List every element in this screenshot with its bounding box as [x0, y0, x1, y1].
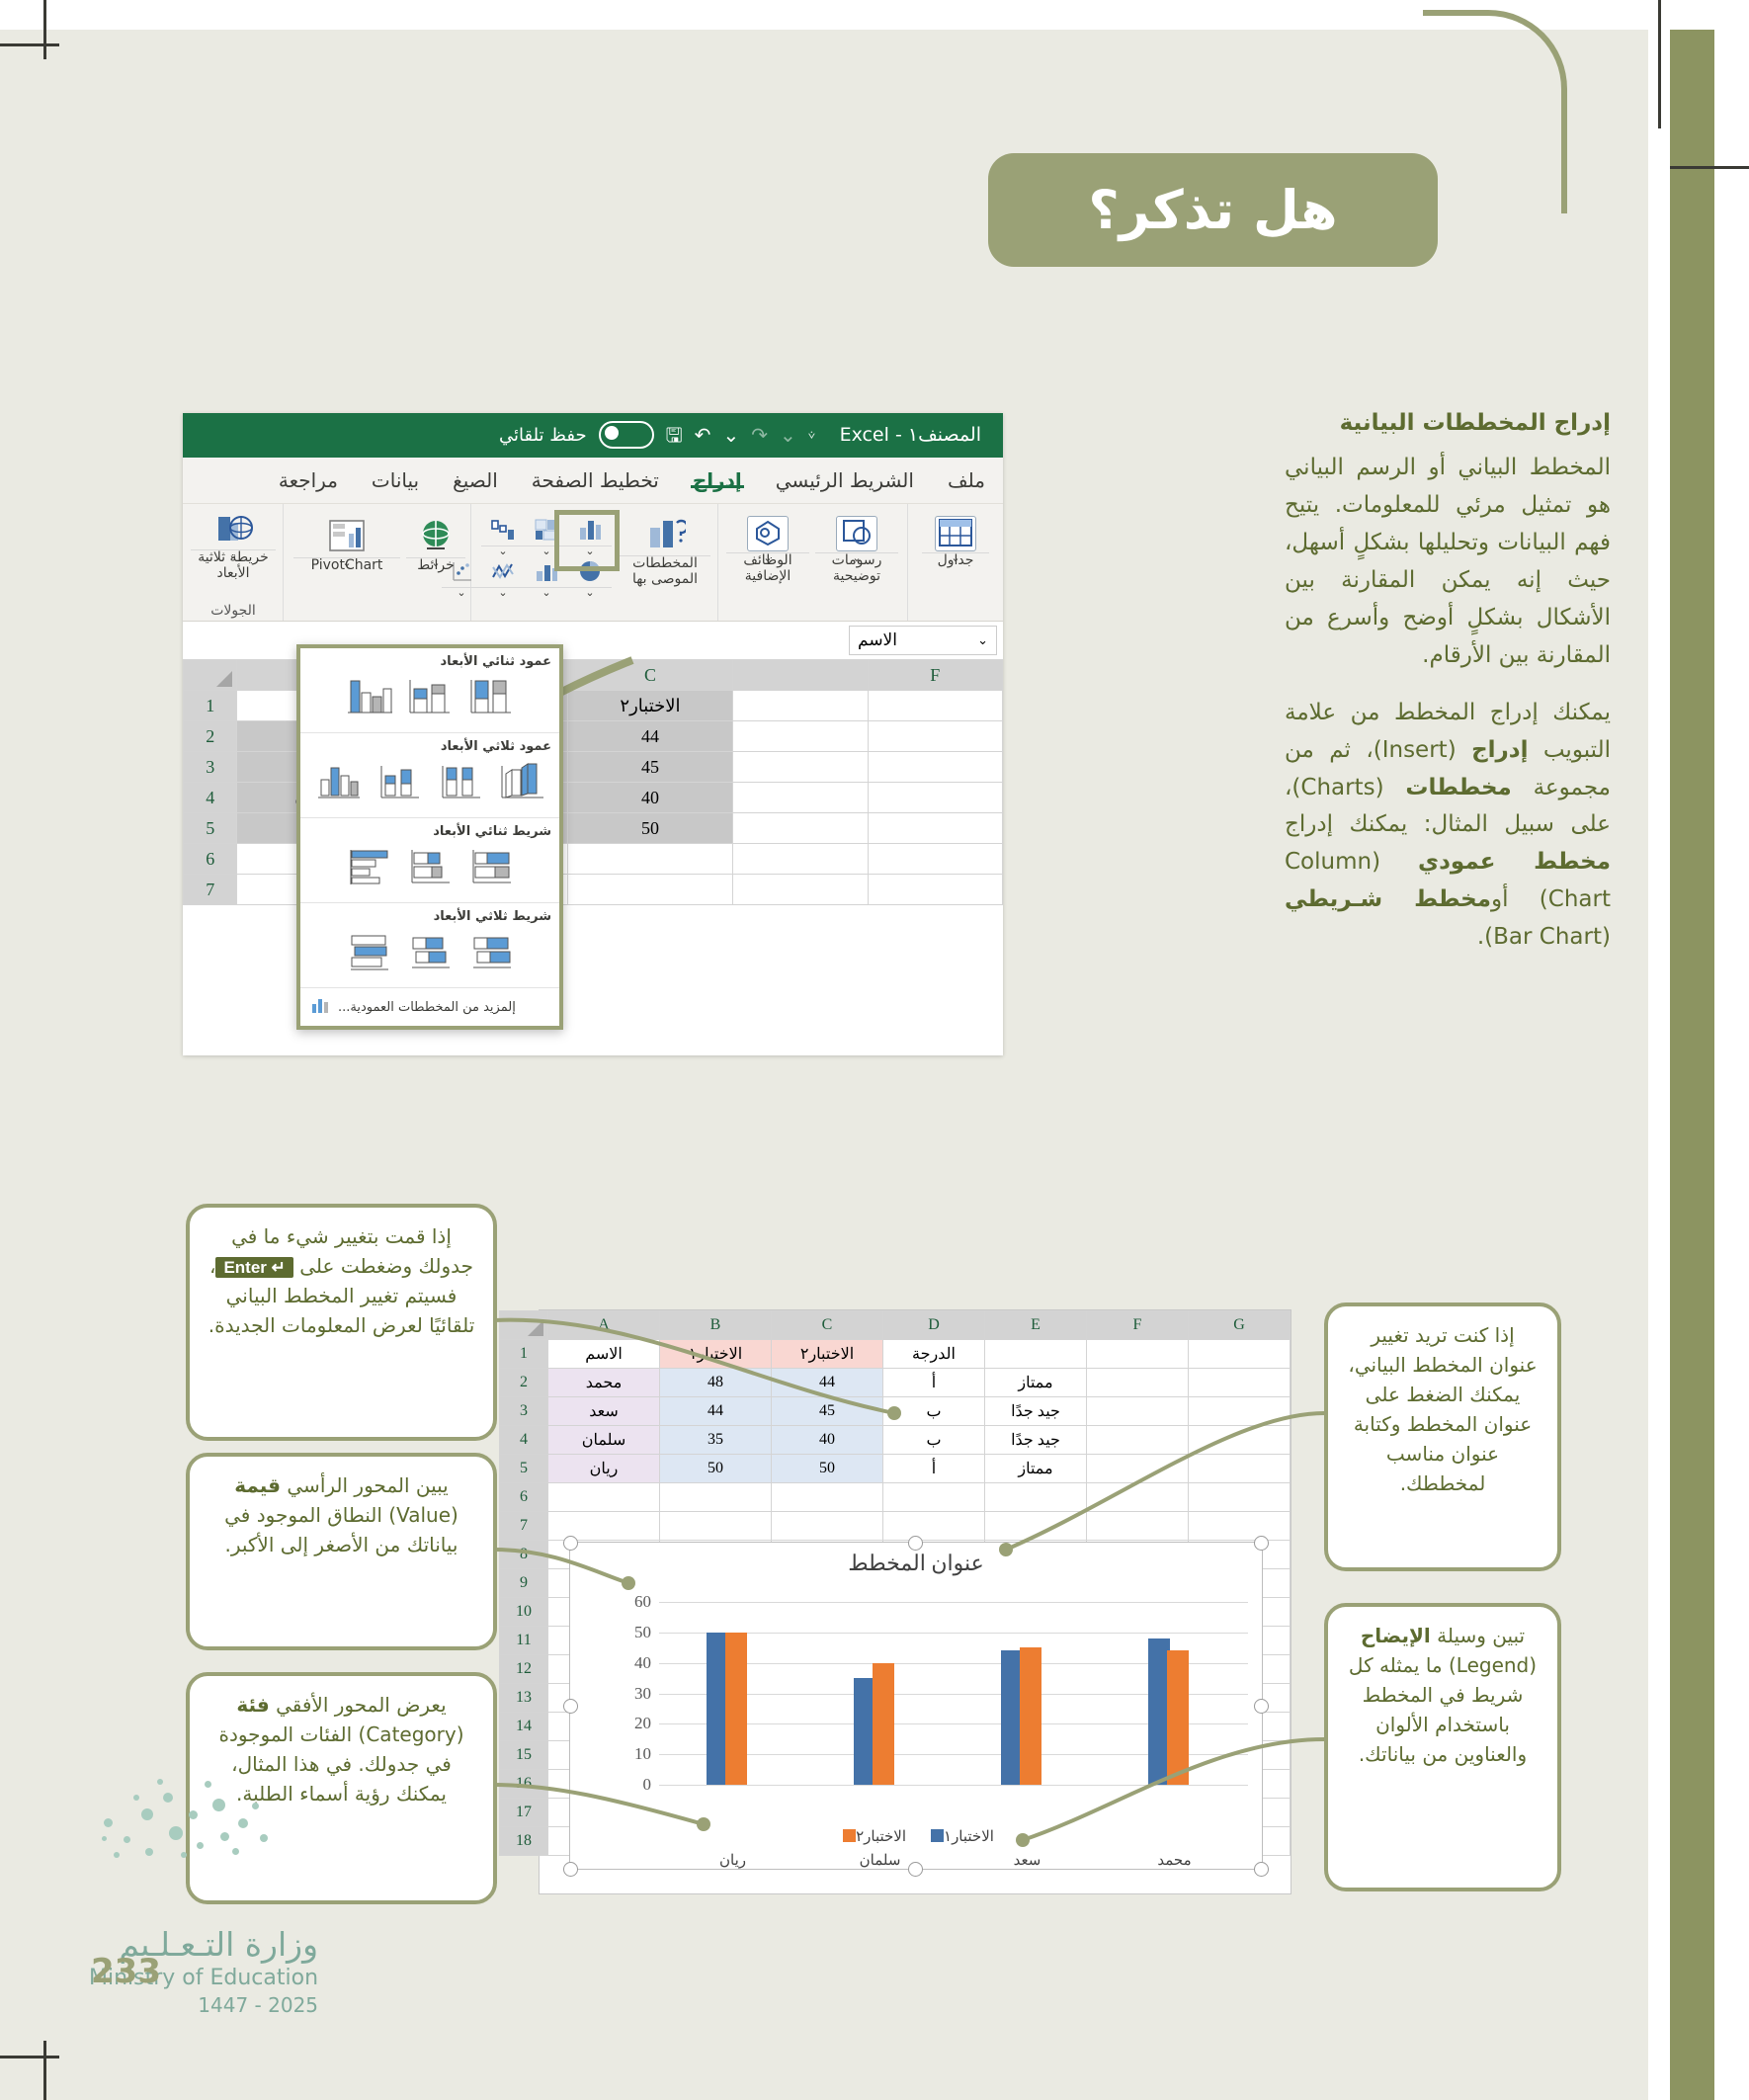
row-header-11[interactable]: 11 [500, 1627, 548, 1655]
gallery-section-heading: عمود ثنائي الأبعاد [308, 654, 551, 669]
cell-c1[interactable]: الاختبار٢ [772, 1340, 883, 1369]
undo-icon[interactable]: ↶ [695, 424, 711, 446]
cell-f6[interactable] [868, 844, 1002, 875]
cell-g2[interactable] [1189, 1369, 1291, 1397]
cell-g1[interactable] [1189, 1340, 1291, 1369]
banner-title: هل تذكر؟ [1088, 179, 1337, 241]
bar-الاختبار٢-محمد[interactable] [1167, 1650, 1189, 1785]
name-box[interactable]: ⌄ الاسم [849, 626, 997, 655]
article-heading: إدراج المخططات البيانية [1285, 410, 1611, 436]
tab-5[interactable]: بيانات [368, 468, 423, 492]
cell-c6[interactable] [567, 844, 732, 875]
cell-d3[interactable]: ب [883, 1397, 985, 1426]
ribbon-group-tours: خريطة ثلاثية الأبعاد ⌄ الجولات [183, 504, 284, 621]
name-box-value: الاسم [858, 630, 897, 650]
cell-e5[interactable] [733, 813, 868, 844]
chart-handle-bl[interactable] [563, 1862, 578, 1877]
section-banner: هل تذكر؟ [988, 153, 1438, 267]
cell-c1[interactable]: الاختبار٢ [567, 691, 732, 721]
chevron-down-icon[interactable]: ⌄ [922, 552, 989, 553]
cell-e3[interactable]: جيد جدًا [985, 1397, 1087, 1426]
chevron-down-icon[interactable]: ⌄ [481, 546, 525, 546]
decorative-dot-11 [252, 1803, 259, 1809]
decorative-dot-3 [145, 1848, 153, 1856]
bar-الاختبار٢-سعد[interactable] [1020, 1647, 1041, 1785]
crop-mark-top-left-2 [0, 43, 59, 46]
cell-f5[interactable] [1087, 1455, 1189, 1483]
chevron-down-icon[interactable]: ⌄ [191, 549, 276, 550]
ribbon-button-recommended-charts-label: المخططات الموصى بها [620, 555, 710, 556]
cell-empty[interactable] [1189, 1483, 1291, 1512]
cell-e2[interactable] [733, 721, 868, 752]
tab-1[interactable]: الشريط الرئيسي [772, 468, 918, 492]
cell-g3[interactable] [1189, 1397, 1291, 1426]
ribbon-button-scatter-line-chart[interactable]: ⌄ [481, 559, 525, 587]
column-header-F[interactable]: F [868, 660, 1002, 691]
decorative-dot-5 [169, 1826, 183, 1840]
ribbon-button-pivotchart[interactable]: PivotChart ⌄ [293, 518, 400, 557]
chart-handle-tr[interactable] [1254, 1536, 1269, 1551]
cell-c4[interactable]: 40 [772, 1426, 883, 1455]
cell-a1[interactable]: الاسم [548, 1340, 660, 1369]
column-chart-highlight-box [554, 510, 620, 571]
column-header-D[interactable]: D [883, 1311, 985, 1340]
article-text-run: مخطط عمودي [1418, 849, 1611, 875]
row-header-5[interactable]: 5 [500, 1455, 548, 1483]
table-row[interactable]: جيد جدًاب4544سعد3 [500, 1397, 1291, 1426]
y-axis-tick: 0 [643, 1775, 652, 1795]
gallery-section-bar-3d: شريط ثلاثي الأبعاد [300, 903, 559, 988]
cell-empty[interactable] [772, 1512, 883, 1541]
article-paragraph-1: المخطط البياني أو الرسم البياني هو تمثيل… [1285, 450, 1611, 675]
chevron-down-icon[interactable]: ⌄ [780, 424, 796, 446]
ribbon-button-addins[interactable]: الوظائف الإضافية ⌄ [726, 516, 809, 552]
row-header-2[interactable]: 2 [500, 1369, 548, 1397]
table-row[interactable]: الدرجةالاختبار٢الاختبار١الاسم1 [500, 1340, 1291, 1369]
cell-d5[interactable]: أ [883, 1455, 985, 1483]
cell-f3[interactable] [868, 752, 1002, 783]
chevron-down-icon[interactable]: ⌄ [481, 587, 525, 588]
quick-access-toolbar[interactable]: ⩒ ⌄ ↷ ⌄ ↶ 🖫 حفظ تلقائي [499, 421, 815, 449]
excel-title-bar: المصنف١ - Excel ⩒ ⌄ ↷ ⌄ ↶ 🖫 حفظ تلقائي [183, 413, 1003, 458]
decorative-dot-7 [197, 1842, 204, 1849]
gallery-item-bar-3d-3[interactable] [343, 930, 394, 977]
row-header-4[interactable]: 4 [184, 783, 237, 813]
gallery-item-bar-2d-2[interactable] [404, 845, 456, 892]
cell-a3[interactable]: سعد [548, 1397, 660, 1426]
chart-title-callout: إذا كنت تريد تغيير عنوان المخطط البياني،… [1324, 1302, 1561, 1571]
decorative-dot-18 [133, 1795, 139, 1801]
legend-label: الاختبار١ [944, 1829, 994, 1845]
article-paragraph-2: يمكنك إدراج المخطط من علامة التبويب إدرا… [1285, 695, 1611, 958]
row-header-1[interactable]: 1 [184, 691, 237, 721]
row-header-3[interactable]: 3 [500, 1397, 548, 1426]
chevron-down-icon[interactable]: ⌄ [293, 557, 400, 558]
cell-f2[interactable] [1087, 1369, 1189, 1397]
article-text-run: مخطط شـريطي [1285, 886, 1491, 912]
decorative-dot-14 [181, 1852, 187, 1858]
row-header-12[interactable]: 12 [500, 1655, 548, 1684]
gridline [659, 1602, 1248, 1603]
column-header-G[interactable]: G [1189, 1311, 1291, 1340]
tab-2[interactable]: إدراج [689, 468, 746, 492]
bar-الاختبار٢-ريان[interactable] [725, 1633, 747, 1785]
cell-g4[interactable] [1189, 1426, 1291, 1455]
chart-legend[interactable]: الاختبار١الاختبار٢ [570, 1827, 1262, 1846]
crop-mark-top-right-2 [1670, 166, 1749, 169]
ribbon-group-tables: جداول ⌄ [907, 504, 1003, 621]
cell-empty[interactable] [548, 1483, 660, 1512]
scatter-line-chart-icon [490, 571, 516, 587]
cell-e6[interactable] [733, 844, 868, 875]
callout-text: (Value) النطاق الموجود في بياناتك من الأ… [224, 1503, 458, 1556]
chart-handle-mr[interactable] [1254, 1699, 1269, 1714]
column-header-F[interactable]: F [1087, 1311, 1189, 1340]
gallery-item-column-2d-2[interactable] [404, 675, 456, 722]
chart-handle-tm[interactable] [908, 1536, 923, 1551]
x-axis-label: ريان [719, 1851, 746, 1870]
row-header-15[interactable]: 15 [500, 1741, 548, 1770]
chart-type-gallery[interactable]: عمود ثنائي الأبعادعمود ثلاثي الأبعادشريط… [296, 644, 563, 1030]
cell-f4[interactable] [868, 783, 1002, 813]
page-side-bar [1670, 30, 1714, 2100]
decorative-dot-2 [141, 1808, 153, 1820]
legend-swatch [843, 1829, 856, 1842]
cell-c3[interactable]: 45 [567, 752, 732, 783]
column-chart-icon [310, 996, 330, 1018]
cell-a5[interactable]: ريان [548, 1455, 660, 1483]
column-header-A[interactable]: A [548, 1311, 660, 1340]
ribbon-button-3d-map[interactable]: خريطة ثلاثية الأبعاد ⌄ [191, 512, 276, 549]
cell-f2[interactable] [868, 721, 1002, 752]
row-header-16[interactable]: 16 [500, 1770, 548, 1799]
column-header-blank[interactable] [733, 660, 868, 691]
cell-b3[interactable]: 44 [660, 1397, 772, 1426]
x-axis-label: سعد [1014, 1851, 1041, 1870]
ribbon-button-tables[interactable]: جداول ⌄ [922, 516, 989, 552]
ribbon-button-recommended-charts[interactable]: المخططات الموصى بها [620, 514, 710, 555]
cell-empty[interactable] [1189, 1512, 1291, 1541]
maps-icon [416, 542, 456, 557]
cell-empty[interactable] [660, 1512, 772, 1541]
cell-d1[interactable]: الدرجة [883, 1340, 985, 1369]
row-header-7[interactable]: 7 [500, 1512, 548, 1541]
row-header-17[interactable]: 17 [500, 1799, 548, 1827]
row-header-4[interactable]: 4 [500, 1426, 548, 1455]
gallery-item-column-3d-3[interactable] [374, 760, 425, 807]
ribbon-button-illustrations[interactable]: رسومات توضيحية ⌄ [815, 516, 898, 552]
decorative-dot-15 [232, 1848, 239, 1855]
3d-map-icon [211, 534, 255, 549]
gridline [659, 1633, 1248, 1634]
recommended-charts-icon [644, 540, 686, 555]
row-header-2[interactable]: 2 [184, 721, 237, 752]
decorative-dot-19 [102, 1836, 107, 1841]
callout-text: (Legend) ما يمثله كل شريط في المخطط باست… [1349, 1653, 1537, 1766]
row-header-6[interactable]: 6 [500, 1483, 548, 1512]
crop-mark-top-left [43, 0, 46, 59]
callout-text: يبين المحور الرأسي [281, 1473, 449, 1497]
more-icon[interactable]: ⩒ [808, 424, 815, 446]
chevron-down-icon[interactable]: ⌄ [726, 552, 809, 553]
tab-0[interactable]: ملف [944, 468, 989, 492]
ministry-year: 2025 - 1447 [89, 1993, 318, 2017]
article-text-run: إدراج [1471, 737, 1528, 763]
excel-document-title: المصنف١ - Excel [840, 424, 981, 446]
legend-swatch [931, 1829, 944, 1842]
cell-e2[interactable]: ممتاز [985, 1369, 1087, 1397]
callout-text: تبين وسيلة [1431, 1624, 1525, 1647]
crop-mark-top-right [1658, 0, 1661, 128]
legend-item-الاختبار٢[interactable]: الاختبار٢ [838, 1827, 906, 1846]
chevron-down-icon[interactable]: ⌄ [406, 557, 465, 558]
chevron-down-icon[interactable]: ⌄ [525, 587, 568, 588]
gallery-item-column-2d-1[interactable] [465, 675, 517, 722]
callout-emphasis: فئة [236, 1693, 269, 1717]
cell-b2[interactable]: 48 [660, 1369, 772, 1397]
row-header-10[interactable]: 10 [500, 1598, 548, 1627]
value-axis-callout: يبين المحور الرأسي قيمة (Value) النطاق ا… [186, 1453, 497, 1650]
chart-title[interactable]: عنوان المخطط [570, 1551, 1262, 1576]
cell-e3[interactable] [733, 752, 868, 783]
cell-e1[interactable] [733, 691, 868, 721]
cell-c5[interactable]: 50 [772, 1455, 883, 1483]
callout-text: إذا كنت تريد تغيير عنوان المخطط البياني،… [1348, 1323, 1537, 1495]
gallery-more-charts[interactable]: إلمزيد من المخططات العمودية... [300, 988, 559, 1026]
crop-mark-bottom-left-2 [0, 2056, 59, 2058]
gallery-section-bar-2d: شريط ثنائي الأبعاد [300, 818, 559, 903]
decorative-dot-17 [205, 1781, 211, 1788]
decorative-dot-13 [114, 1852, 120, 1858]
banner-tail-decoration [1423, 10, 1567, 213]
y-axis-tick: 60 [634, 1592, 651, 1612]
article-text-run: (Bar Chart). [1477, 924, 1611, 950]
chevron-down-icon[interactable]: ⌄ [815, 552, 898, 553]
select-all-corner[interactable] [500, 1311, 548, 1340]
cell-c5[interactable]: 50 [567, 813, 732, 844]
chevron-down-icon-2[interactable]: ⌄ [722, 424, 739, 446]
cell-f3[interactable] [1087, 1397, 1189, 1426]
bar-chart-icon [534, 571, 559, 587]
page-number: 233 [91, 1952, 161, 1991]
bar-الاختبار٢-سلمان[interactable] [873, 1663, 894, 1785]
tab-4[interactable]: الصيغ [449, 468, 502, 492]
gallery-item-column-3d-2[interactable] [435, 760, 486, 807]
cell-d4[interactable]: ب [883, 1426, 985, 1455]
row-header-8[interactable]: 8 [500, 1541, 548, 1569]
decorative-dot-12 [260, 1834, 268, 1842]
gallery-item-column-3d-1[interactable] [496, 760, 547, 807]
chart-plot-area: 0102030405060محمدسعدسلمانريان [659, 1602, 1248, 1785]
y-axis-tick: 40 [634, 1653, 651, 1673]
gallery-section-heading: عمود ثلاثي الأبعاد [308, 739, 551, 754]
auto-update-callout: إذا قمت بتغيير شيء ما في جدولك وضغطت على… [186, 1204, 497, 1441]
cell-a4[interactable]: سلمان [548, 1426, 660, 1455]
tab-3[interactable]: تخطيط الصفحة [528, 468, 663, 492]
decorative-dot-9 [220, 1832, 229, 1841]
y-axis-tick: 20 [634, 1714, 651, 1733]
y-axis-tick: 50 [634, 1623, 651, 1642]
decorative-dot-6 [189, 1810, 198, 1819]
decorative-dots [94, 1749, 291, 1858]
table-row[interactable]: جيد جدًاب4035سلمان4 [500, 1426, 1291, 1455]
cell-f7[interactable] [868, 875, 1002, 905]
crop-mark-bottom-left [43, 2041, 46, 2100]
chart-handle-tl[interactable] [563, 1536, 578, 1551]
decorative-dot-4 [163, 1793, 173, 1803]
row-header-18[interactable]: 18 [500, 1827, 548, 1856]
cell-empty[interactable] [985, 1483, 1087, 1512]
column-header-C[interactable]: C [567, 660, 732, 691]
save-icon[interactable]: 🖫 [666, 424, 683, 446]
row-header-13[interactable]: 13 [500, 1684, 548, 1713]
cell-f1[interactable] [1087, 1340, 1189, 1369]
cell-c2[interactable]: 44 [772, 1369, 883, 1397]
cell-c4[interactable]: 40 [567, 783, 732, 813]
tab-6[interactable]: مراجعة [275, 468, 342, 492]
cell-e1[interactable] [985, 1340, 1087, 1369]
gallery-section-column-2d: عمود ثنائي الأبعاد [300, 648, 559, 733]
legend-callout: تبين وسيلة الإيضاح (Legend) ما يمثله كل … [1324, 1603, 1561, 1891]
decorative-dot-16 [157, 1779, 163, 1785]
gallery-item-column-2d-3[interactable] [343, 675, 394, 722]
callout-text: يعرض المحور الأفقي [270, 1693, 447, 1717]
cell-f1[interactable] [868, 691, 1002, 721]
row-header-5[interactable]: 5 [184, 813, 237, 844]
cell-b1[interactable]: الاختبار١ [660, 1340, 772, 1369]
table-row[interactable]: 7 [500, 1512, 1291, 1541]
ribbon-group-tours-pivot: خرائط ⌄ PivotChart ⌄ [283, 504, 471, 621]
gallery-item-bar-2d-1[interactable] [465, 845, 517, 892]
cell-c2[interactable]: 44 [567, 721, 732, 752]
gallery-section-column-3d: عمود ثلاثي الأبعاد [300, 733, 559, 818]
ribbon-button-waterfall-chart[interactable]: ⌄ [481, 516, 525, 546]
row-header-7[interactable]: 7 [184, 875, 237, 905]
gallery-section-heading: شريط ثنائي الأبعاد [308, 824, 551, 839]
callout-emphasis: الإيضاح [1361, 1624, 1431, 1647]
cell-b5[interactable]: 50 [660, 1455, 772, 1483]
ribbon-group-illustrations: رسومات توضيحية ⌄ الوظائف الإضافية ⌄ [717, 504, 908, 621]
legend-label: الاختبار٢ [856, 1829, 906, 1845]
cell-empty[interactable] [883, 1512, 985, 1541]
autosave-toggle[interactable] [599, 421, 654, 449]
chevron-down-icon[interactable]: ⌄ [977, 633, 988, 648]
select-all-corner[interactable] [184, 660, 237, 691]
article-text-run: مخططات [1405, 775, 1511, 800]
row-header-9[interactable]: 9 [500, 1569, 548, 1598]
chart-object[interactable]: عنوان المخطط 0102030405060محمدسعدسلمانري… [569, 1542, 1263, 1870]
row-header-3[interactable]: 3 [184, 752, 237, 783]
cell-f5[interactable] [868, 813, 1002, 844]
cell-d2[interactable]: أ [883, 1369, 985, 1397]
x-axis-label: محمد [1157, 1851, 1191, 1870]
gallery-item-bar-3d-1[interactable] [465, 930, 517, 977]
row-header-1[interactable]: 1 [500, 1340, 548, 1369]
column-header-E[interactable]: E [985, 1311, 1087, 1340]
decorative-dot-8 [212, 1799, 225, 1811]
table-row[interactable]: 6 [500, 1483, 1291, 1512]
y-axis-tick: 30 [634, 1684, 651, 1704]
cell-empty[interactable] [1087, 1512, 1189, 1541]
autosave-label: حفظ تلقائي [499, 425, 587, 446]
cell-b4[interactable]: 35 [660, 1426, 772, 1455]
cell-empty[interactable] [883, 1483, 985, 1512]
row-header-6[interactable]: 6 [184, 844, 237, 875]
decorative-dot-10 [238, 1818, 248, 1828]
ribbon-group-charts: المخططات الموصى بها ⌄ ⌄ ⌄ [470, 504, 718, 621]
decorative-dot-1 [124, 1836, 130, 1843]
chart-handle-br[interactable] [1254, 1862, 1269, 1877]
table-row[interactable]: ممتازأ4448محمد2 [500, 1369, 1291, 1397]
cell-e5[interactable]: ممتاز [985, 1455, 1087, 1483]
waterfall-chart-icon [489, 530, 517, 546]
ribbon-button-maps[interactable]: خرائط ⌄ [406, 518, 465, 557]
legend-item-الاختبار١[interactable]: الاختبار١ [926, 1827, 994, 1846]
chart-handle-ml[interactable] [563, 1699, 578, 1714]
excel-ribbon-tabs[interactable]: ملفالشريط الرئيسيإدراجتخطيط الصفحةالصيغب… [183, 458, 1003, 504]
cell-empty[interactable] [985, 1512, 1087, 1541]
ribbon-group-tours-label: الجولات [183, 603, 284, 619]
cell-f4[interactable] [1087, 1426, 1189, 1455]
cell-c3[interactable]: 45 [772, 1397, 883, 1426]
pie-chart-icon [577, 571, 603, 587]
callout-emphasis: قيمة [234, 1473, 281, 1497]
cell-empty[interactable] [772, 1483, 883, 1512]
cell-e7[interactable] [733, 875, 868, 905]
pivotchart-icon [325, 542, 369, 557]
x-axis-label: سلمان [860, 1851, 901, 1870]
table-row[interactable]: ممتازأ5050ريان5 [500, 1455, 1291, 1483]
article-column: إدراج المخططات البيانية المخطط البياني أ… [1285, 410, 1611, 976]
gallery-section-heading: شريط ثلاثي الأبعاد [308, 909, 551, 924]
excel-ribbon[interactable]: جداول ⌄ رسومات توضيحية ⌄ الوظائف الإضافي… [183, 504, 1003, 622]
gallery-item-column-3d-4[interactable] [312, 760, 364, 807]
gallery-item-bar-3d-2[interactable] [404, 930, 456, 977]
cell-e4[interactable]: جيد جدًا [985, 1426, 1087, 1455]
gridline [659, 1785, 1248, 1786]
cell-c7[interactable] [567, 875, 732, 905]
gallery-item-bar-2d-3[interactable] [343, 845, 394, 892]
gallery-more-label: إلمزيد من المخططات العمودية... [338, 1000, 516, 1015]
row-header-14[interactable]: 14 [500, 1713, 548, 1741]
enter-key-badge: ↵ Enter [215, 1257, 292, 1278]
y-axis-tick: 10 [634, 1744, 651, 1764]
cell-empty[interactable] [548, 1512, 660, 1541]
cell-empty[interactable] [1087, 1483, 1189, 1512]
cell-empty[interactable] [660, 1483, 772, 1512]
cell-e4[interactable] [733, 783, 868, 813]
chart-handle-bm[interactable] [908, 1862, 923, 1877]
column-header-C[interactable]: C [772, 1311, 883, 1340]
decorative-dot-0 [104, 1818, 113, 1827]
table-icon [935, 516, 976, 551]
chevron-down-icon[interactable]: ⌄ [568, 587, 612, 588]
column-header-B[interactable]: B [660, 1311, 772, 1340]
cell-a2[interactable]: محمد [548, 1369, 660, 1397]
cell-g5[interactable] [1189, 1455, 1291, 1483]
illustrations-icon [836, 516, 877, 551]
addins-icon [747, 516, 789, 551]
redo-icon[interactable]: ↷ [751, 424, 768, 446]
